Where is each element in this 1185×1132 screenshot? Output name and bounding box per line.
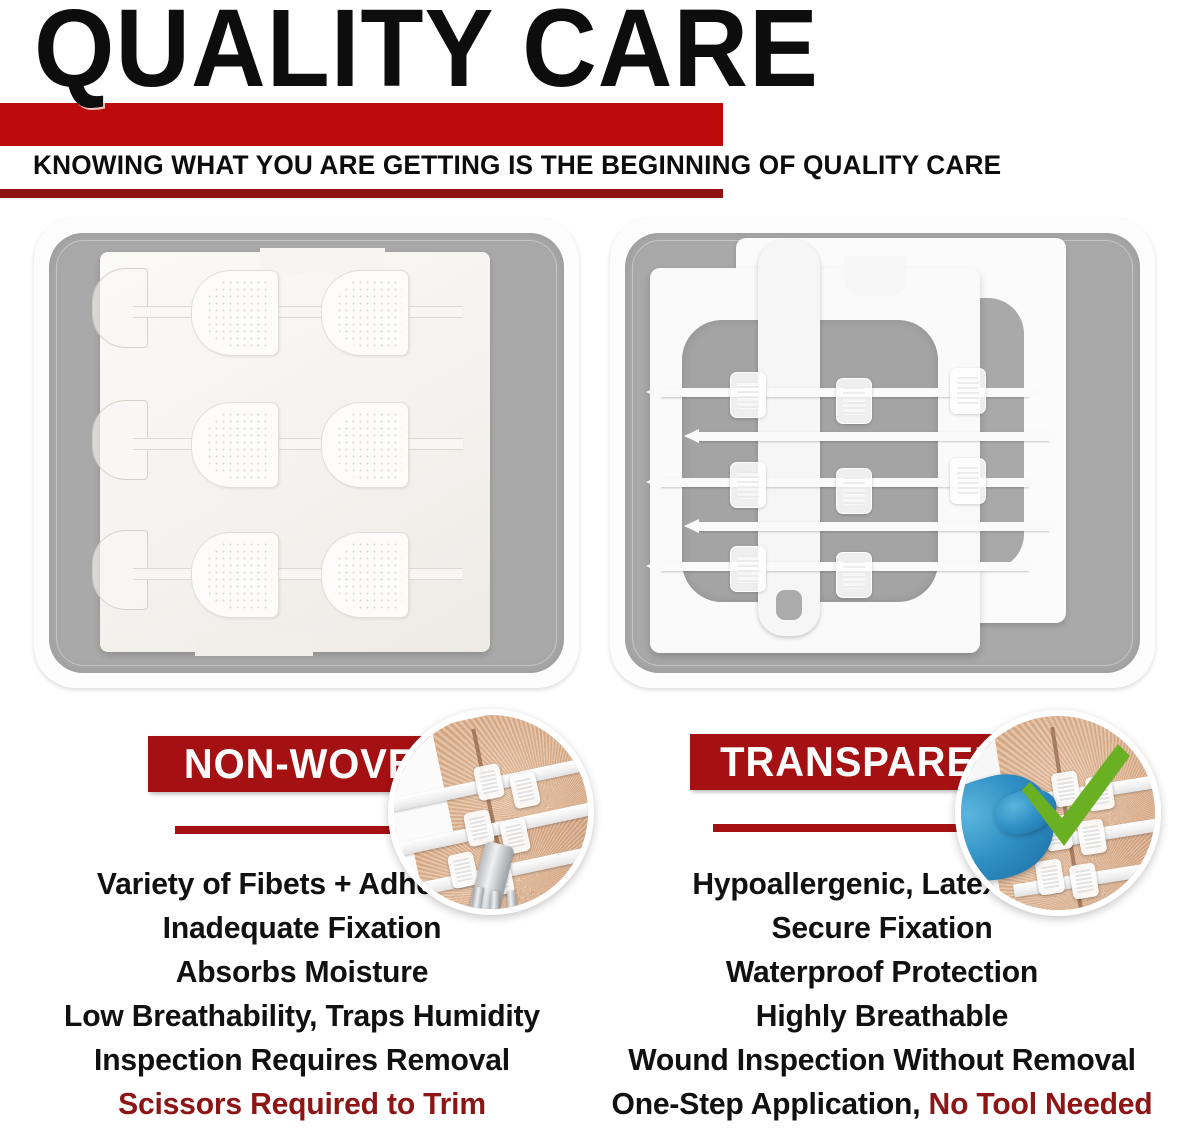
product-panels bbox=[0, 210, 1185, 720]
closure-clip bbox=[730, 462, 766, 508]
page-title: QUALITY CARE bbox=[34, 0, 819, 104]
green-check-icon bbox=[1014, 742, 1134, 852]
closure-clip bbox=[1069, 862, 1100, 900]
closure-clip bbox=[950, 458, 986, 504]
non-woven-strip bbox=[133, 402, 461, 486]
header-underline-rule bbox=[0, 189, 723, 198]
feature-item-accent: No Tool Needed bbox=[929, 1086, 1153, 1121]
non-woven-strip bbox=[133, 270, 461, 354]
forceps-instrument bbox=[489, 891, 500, 915]
feature-item: Wound Inspection Without Removal bbox=[610, 1038, 1153, 1082]
closure-clip bbox=[836, 552, 872, 598]
closure-strap bbox=[698, 522, 1050, 531]
feature-item: Waterproof Protection bbox=[610, 950, 1153, 994]
inset-photo-non-woven-in-use bbox=[388, 709, 594, 915]
closure-clip bbox=[836, 468, 872, 514]
feature-item-lead: One-Step Application, bbox=[612, 1086, 929, 1121]
non-woven-strip bbox=[133, 532, 461, 616]
closure-clip bbox=[1035, 858, 1066, 896]
feature-item: Inspection Requires Removal bbox=[30, 1038, 573, 1082]
feature-item: Low Breathability, Traps Humidity bbox=[30, 994, 573, 1038]
closure-clip bbox=[730, 372, 766, 418]
feature-item: Highly Breathable bbox=[610, 994, 1153, 1038]
closure-clip bbox=[730, 546, 766, 592]
feature-item-highlighted: Scissors Required to Trim bbox=[30, 1082, 573, 1126]
feature-item: Absorbs Moisture bbox=[30, 950, 573, 994]
non-woven-backing-sheet bbox=[100, 252, 490, 652]
closure-strap bbox=[698, 432, 1050, 441]
closure-clip bbox=[950, 368, 986, 414]
product-image-non-woven bbox=[22, 210, 592, 710]
closure-clip bbox=[836, 378, 872, 424]
page-header: QUALITY CARE KNOWING WHAT YOU ARE GETTIN… bbox=[0, 0, 1185, 205]
page-subtitle: KNOWING WHAT YOU ARE GETTING IS THE BEGI… bbox=[33, 150, 1001, 180]
feature-item-highlighted: One-Step Application, No Tool Needed bbox=[610, 1082, 1153, 1126]
product-image-transparent bbox=[598, 210, 1168, 710]
